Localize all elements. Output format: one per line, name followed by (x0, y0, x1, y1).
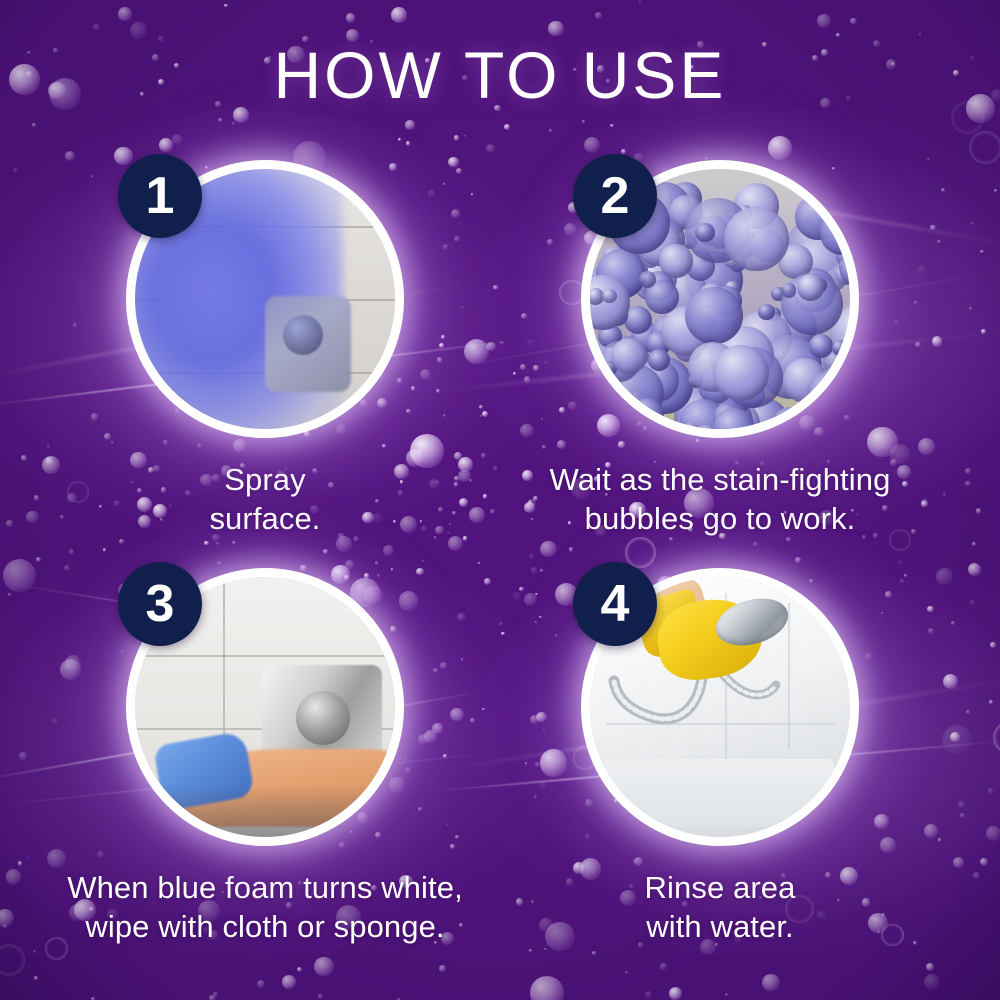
step-number-badge-4: 4 (573, 562, 657, 646)
step-3-caption: When blue foam turns white, wipe with cl… (15, 868, 515, 947)
step-3-caption-line-1: When blue foam turns white, (15, 868, 515, 907)
step-item-4: 4 Rinse area with water. (470, 568, 970, 947)
step-1-caption-line-1: Spray (15, 460, 515, 499)
step-2-image-wrap: 2 (581, 160, 859, 438)
step-1-image-wrap: 1 (126, 160, 404, 438)
how-to-use-infographic: HOW TO USE (0, 0, 1000, 1000)
step-number-badge-2: 2 (573, 154, 657, 238)
step-4-caption-line-2: with water. (470, 907, 970, 946)
step-item-3: 3 When blue foam turns white, wipe with … (15, 568, 515, 947)
step-4-caption-line-1: Rinse area (470, 868, 970, 907)
step-2-caption-line-1: Wait as the stain-fighting (470, 460, 970, 499)
steps-grid: 1 Spray surface. 2 (0, 0, 1000, 1000)
step-2-caption: Wait as the stain-fighting bubbles go to… (470, 460, 970, 539)
step-3-image-wrap: 3 (126, 568, 404, 846)
step-item-2: 2 Wait as the stain-fighting bubbles go … (470, 160, 970, 539)
step-item-1: 1 Spray surface. (15, 160, 515, 539)
step-1-caption-line-2: surface. (15, 499, 515, 538)
step-2-caption-line-2: bubbles go to work. (470, 499, 970, 538)
step-number-badge-3: 3 (118, 562, 202, 646)
step-4-image-wrap: 4 (581, 568, 859, 846)
step-4-caption: Rinse area with water. (470, 868, 970, 947)
step-1-caption: Spray surface. (15, 460, 515, 539)
step-3-caption-line-2: wipe with cloth or sponge. (15, 907, 515, 946)
step-number-badge-1: 1 (118, 154, 202, 238)
